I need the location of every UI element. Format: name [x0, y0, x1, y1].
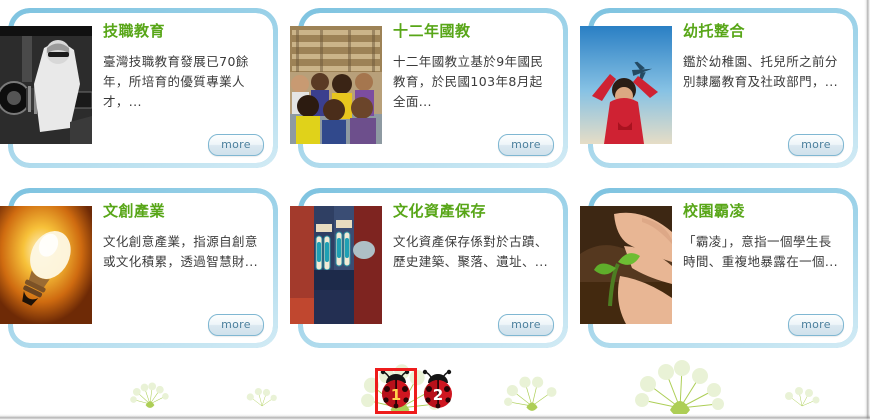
card-summary: 十二年國教立基於9年國民教育，於民國103年8月起全面...: [393, 52, 553, 112]
machinist-workshop-photo: [0, 26, 92, 144]
more-button[interactable]: more: [788, 134, 844, 156]
card-title: 技職教育: [103, 22, 265, 40]
card-body: 十二年國教 十二年國教立基於9年國民教育，於民國103年8月起全面...: [393, 22, 555, 112]
child-arms-raised-sky-photo: [580, 26, 672, 144]
more-button[interactable]: more: [208, 134, 264, 156]
card-thumbnail[interactable]: [580, 26, 672, 144]
card-summary: 鑑於幼稚園、托兒所之前分別隸屬教育及社政部門，...: [683, 52, 843, 92]
card-summary: 臺灣技職教育發展已70餘年，所培育的優質專業人才，...: [103, 52, 263, 112]
card-title: 校園霸凌: [683, 202, 845, 220]
topic-card-page: 技職教育 臺灣技職教育發展已70餘年，所培育的優質專業人才，... more: [0, 0, 870, 420]
topic-card[interactable]: 校園霸凌 「霸凌」，意指一個學生長時間、重複地暴露在一個... more: [588, 188, 858, 348]
card-title: 文創產業: [103, 202, 265, 220]
card-body: 文創產業 文化創意產業，指源自創意或文化積累，透過智慧財...: [103, 202, 265, 272]
topic-card[interactable]: 技職教育 臺灣技職教育發展已70餘年，所培育的優質專業人才，... more: [8, 8, 278, 168]
card-body: 幼托整合 鑑於幼稚園、托兒所之前分別隸屬教育及社政部門，...: [683, 22, 845, 92]
card-title: 幼托整合: [683, 22, 845, 40]
students-seated-classroom-photo: [290, 26, 382, 144]
temple-ornament-photo: [290, 206, 382, 324]
card-thumbnail[interactable]: [0, 26, 92, 144]
more-button[interactable]: more: [498, 314, 554, 336]
card-body: 校園霸凌 「霸凌」，意指一個學生長時間、重複地暴露在一個...: [683, 202, 845, 272]
card-title: 十二年國教: [393, 22, 555, 40]
topic-card[interactable]: 幼托整合 鑑於幼稚園、托兒所之前分別隸屬教育及社政部門，... more: [588, 8, 858, 168]
ladybug-icon: 2: [418, 369, 458, 413]
card-thumbnail[interactable]: [580, 206, 672, 324]
glowing-lightbulb-photo: [0, 206, 92, 324]
card-body: 技職教育 臺灣技職教育發展已70餘年，所培育的優質專業人才，...: [103, 22, 265, 112]
topic-card[interactable]: 十二年國教 十二年國教立基於9年國民教育，於民國103年8月起全面... mor…: [298, 8, 568, 168]
hands-planting-seedling-photo: [580, 206, 672, 324]
pagination-item-2[interactable]: 2: [418, 369, 458, 413]
card-body: 文化資產保存 文化資產保存係對於古蹟、歷史建築、聚落、遺址、...: [393, 202, 555, 272]
card-summary: 文化資產保存係對於古蹟、歷史建築、聚落、遺址、...: [393, 232, 553, 272]
more-button[interactable]: more: [208, 314, 264, 336]
card-thumbnail[interactable]: [290, 206, 382, 324]
window-frame-bottom-edge: [0, 414, 870, 420]
card-thumbnail[interactable]: [290, 26, 382, 144]
card-grid: 技職教育 臺灣技職教育發展已70餘年，所培育的優質專業人才，... more: [0, 0, 870, 360]
pagination-number: 2: [433, 386, 443, 404]
card-summary: 文化創意產業，指源自創意或文化積累，透過智慧財...: [103, 232, 263, 272]
topic-card[interactable]: 文創產業 文化創意產業，指源自創意或文化積累，透過智慧財... more: [8, 188, 278, 348]
more-button[interactable]: more: [498, 134, 554, 156]
more-button[interactable]: more: [788, 314, 844, 336]
card-thumbnail[interactable]: [0, 206, 92, 324]
card-title: 文化資產保存: [393, 202, 555, 220]
topic-card[interactable]: 文化資產保存 文化資產保存係對於古蹟、歷史建築、聚落、遺址、... more: [298, 188, 568, 348]
pagination[interactable]: 1 2: [376, 368, 458, 414]
ladybug-icon: 1: [376, 369, 416, 413]
card-summary: 「霸凌」，意指一個學生長時間、重複地暴露在一個...: [683, 232, 843, 272]
pagination-number: 1: [391, 386, 401, 404]
pagination-item-1[interactable]: 1: [376, 369, 416, 413]
